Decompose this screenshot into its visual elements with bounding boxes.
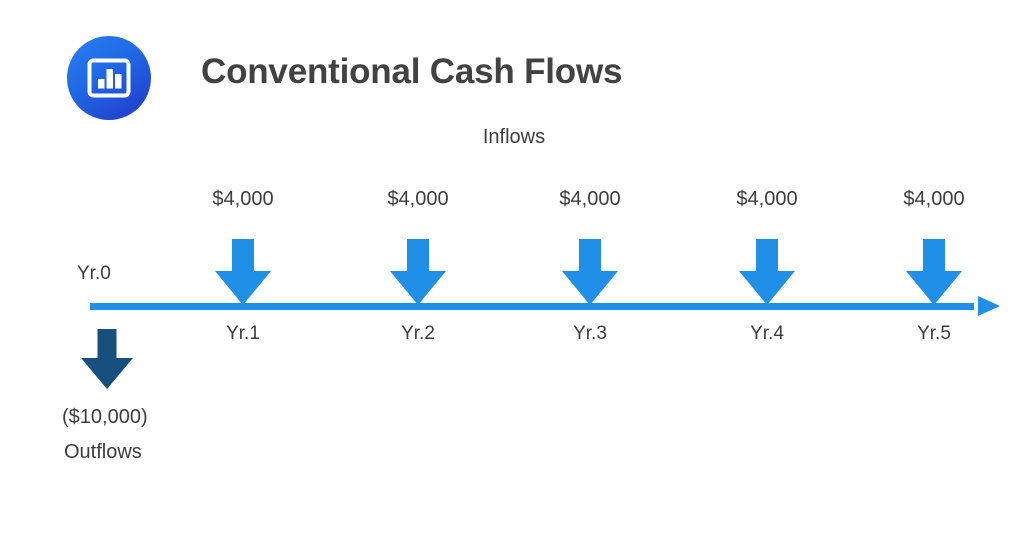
period-label-yr4: Yr.4: [707, 323, 827, 345]
arrow-down-icon: [906, 239, 962, 305]
period-label-yr5: Yr.5: [874, 323, 994, 345]
timeline-axis: [90, 303, 1000, 310]
inflow-amount: $4,000: [183, 186, 303, 212]
arrow-down-icon: [215, 239, 271, 305]
arrow-down-icon: [739, 239, 795, 305]
period-label-yr2: Yr.2: [358, 323, 478, 345]
inflow-group-yr4: $4,000: [707, 186, 827, 305]
outflow-amount: ($10,000): [62, 406, 148, 429]
page-title: Conventional Cash Flows: [201, 52, 622, 92]
inflow-amount: $4,000: [874, 186, 994, 212]
inflows-caption: Inflows: [0, 126, 1024, 149]
inflow-amount: $4,000: [530, 186, 650, 212]
inflows-caption-text: Inflows: [483, 126, 545, 148]
cash-flow-diagram-canvas: Conventional Cash Flows Inflows Yr.0 $4,…: [0, 0, 1024, 546]
inflow-amount: $4,000: [707, 186, 827, 212]
inflow-group-yr5: $4,000: [874, 186, 994, 305]
inflow-amount: $4,000: [358, 186, 478, 212]
period-label-yr3: Yr.3: [530, 323, 650, 345]
logo-badge: [67, 36, 151, 120]
inflow-group-yr1: $4,000: [183, 186, 303, 305]
outflows-caption: Outflows: [64, 441, 142, 464]
arrow-down-outflow-icon: [81, 329, 133, 389]
inflow-group-yr3: $4,000: [530, 186, 650, 305]
arrow-down-icon: [562, 239, 618, 305]
timeline-arrow-right-icon: [978, 296, 1000, 316]
period-label-yr1: Yr.1: [183, 323, 303, 345]
inflow-group-yr2: $4,000: [358, 186, 478, 305]
arrow-down-icon: [390, 239, 446, 305]
bar-chart-icon: [87, 58, 131, 98]
period-label-yr0: Yr.0: [77, 263, 111, 285]
timeline-bar: [90, 303, 974, 310]
